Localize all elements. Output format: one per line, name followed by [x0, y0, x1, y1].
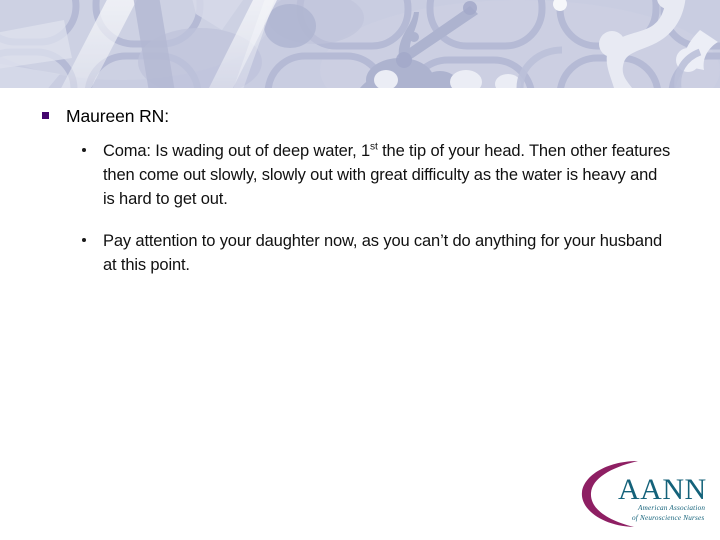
bullet-level1-text: Maureen RN: — [66, 106, 169, 126]
sub-bullet-coma: Coma: Is wading out of deep water, 1st t… — [0, 139, 720, 211]
sub-bullet-attention: Pay attention to your daughter now, as y… — [0, 229, 720, 277]
ordinal-superscript: st — [370, 142, 378, 153]
round-bullet-icon — [82, 148, 86, 152]
square-bullet-icon — [42, 112, 49, 119]
aann-acronym: AANN — [618, 473, 707, 506]
sub-bullet-attention-text: Pay attention to your daughter now, as y… — [103, 232, 662, 274]
aann-tagline-line2: of Neuroscience Nurses — [632, 514, 704, 522]
decorative-header-banner — [0, 0, 720, 88]
aann-logo: AANN American Association of Neuroscienc… — [580, 458, 716, 530]
sub-bullet-coma-prefix: Coma: Is wading out of deep water, 1 — [103, 142, 370, 160]
round-bullet-icon — [82, 238, 86, 242]
slide-body: Maureen RN: Coma: Is wading out of deep … — [0, 104, 720, 277]
bullet-level1: Maureen RN: — [0, 104, 720, 129]
aann-tagline-line1: American Association — [637, 504, 705, 512]
slide: Maureen RN: Coma: Is wading out of deep … — [0, 0, 720, 540]
